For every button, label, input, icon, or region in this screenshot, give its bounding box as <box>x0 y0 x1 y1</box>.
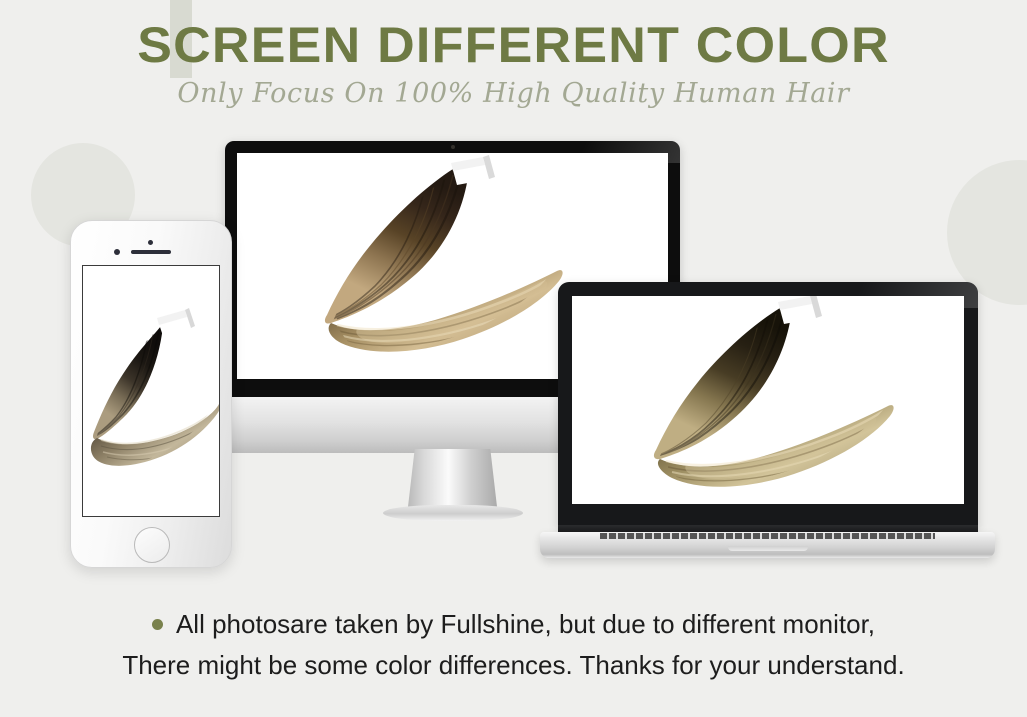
hair-extension-image-laptop <box>572 296 964 504</box>
disclaimer-line-1-text: All photosare taken by Fullshine, but du… <box>176 609 875 639</box>
laptop <box>540 282 995 558</box>
disclaimer-line-1: All photosare taken by Fullshine, but du… <box>0 604 1027 645</box>
webcam-icon <box>451 145 455 149</box>
page-title: SCREEN DIFFERENT COLOR <box>0 16 1027 74</box>
disclaimer-note: All photosare taken by Fullshine, but du… <box>0 604 1027 686</box>
monitor-stand-neck <box>408 449 498 511</box>
laptop-lid <box>558 282 978 529</box>
disclaimer-line-2: There might be some color differences. T… <box>0 645 1027 686</box>
laptop-trackpad-notch <box>728 546 808 551</box>
page-subtitle: Only Focus On 100% High Quality Human Ha… <box>0 78 1027 109</box>
proximity-sensor-icon <box>148 240 153 245</box>
laptop-screen <box>572 296 964 504</box>
smartphone <box>70 220 232 568</box>
monitor-stand-foot <box>383 505 523 521</box>
laptop-keyboard <box>600 533 935 539</box>
phone-screen <box>82 265 220 517</box>
bullet-icon <box>152 619 163 630</box>
front-camera-icon <box>114 249 120 255</box>
promo-banner: SCREEN DIFFERENT COLOR Only Focus On 100… <box>0 0 1027 717</box>
home-button[interactable] <box>134 527 170 563</box>
hair-extension-image-phone <box>83 266 219 516</box>
earpiece-speaker-icon <box>131 250 171 254</box>
